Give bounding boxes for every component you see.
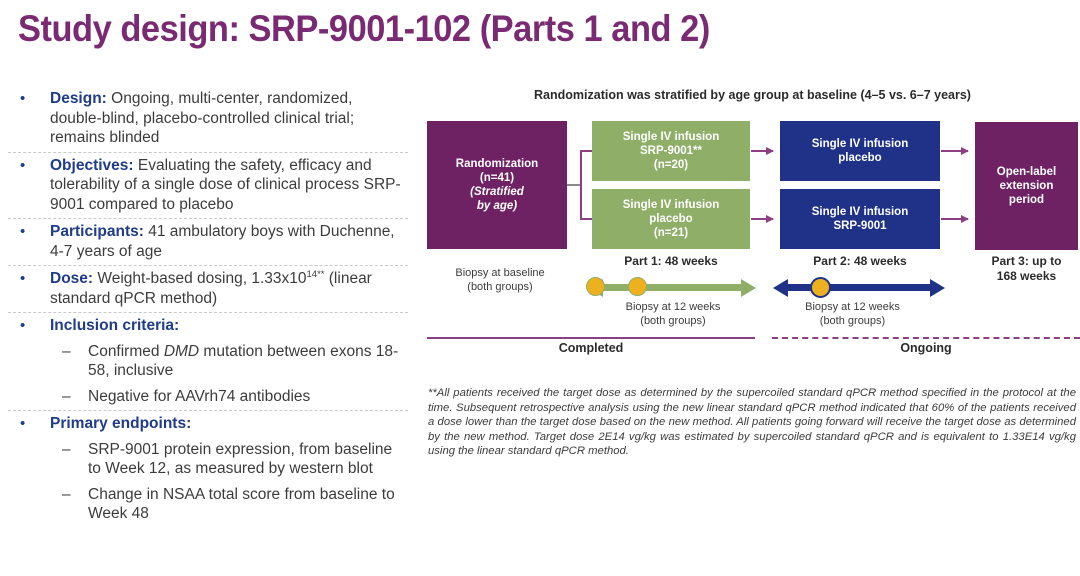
status-divider-ongoing — [772, 337, 1080, 339]
sub-bullet-nsaa-score: –Change in NSAA total score from baselin… — [8, 485, 408, 524]
timeline-part1 — [588, 276, 756, 298]
dash-icon: – — [62, 387, 71, 407]
diagram-header: Randomization was stratified by age grou… — [425, 88, 1080, 102]
bullet-item-design: •Design: Ongoing, multi-center, randomiz… — [8, 89, 408, 148]
bullet-group-participants: •Participants: 41 ambulatory boys with D… — [8, 218, 408, 265]
randomization-line2: (n=41) — [480, 172, 514, 184]
bullet-item-endpoints: •Primary endpoints: — [8, 414, 408, 434]
srp-p1-line2: SRP-9001** — [640, 145, 702, 157]
connector-bracket-vertical — [580, 150, 582, 220]
box-srp9001-part2: Single IV infusion SRP-9001 — [780, 189, 940, 249]
srp-p2-line2: SRP-9001 — [833, 220, 886, 232]
arrow-placebo-to-srp — [751, 218, 773, 220]
placebo-p2-line2: placebo — [838, 152, 881, 164]
sub-text-pre: Change in NSAA total score from baseline… — [88, 486, 395, 523]
ole-line1: Open-label — [997, 166, 1056, 178]
bullet-dot-icon: • — [20, 156, 25, 176]
placebo-p1-line1: Single IV infusion — [623, 199, 719, 211]
biopsy-marker-week12 — [628, 277, 647, 296]
caption-part3-line1: Part 3: up to — [991, 254, 1061, 268]
bullet-group-dose: •Dose: Weight-based dosing, 1.33x1014** … — [8, 265, 408, 312]
bullet-label-participants: Participants: — [50, 223, 144, 240]
bullet-item-inclusion: •Inclusion criteria: — [8, 316, 408, 336]
box-srp9001-part1: Single IV infusion SRP-9001** (n=20) — [592, 121, 750, 181]
bullet-dot-icon: • — [20, 316, 25, 336]
bullet-label-dose: Dose: — [50, 270, 93, 287]
sub-text-italic: DMD — [164, 343, 199, 360]
arrow-srp2-to-ole — [941, 218, 968, 220]
timeline-arrowhead-right-icon — [741, 279, 756, 297]
biopsy-baseline-line1: Biopsy at baseline — [455, 267, 544, 279]
bullet-label-objectives: Objectives: — [50, 157, 134, 174]
biopsy-baseline-caption: Biopsy at baseline (both groups) — [425, 266, 575, 294]
page-title: Study design: SRP-9001-102 (Parts 1 and … — [18, 8, 855, 50]
sub-text-pre: SRP-9001 protein expression, from baseli… — [88, 441, 392, 478]
status-divider-completed — [427, 337, 755, 339]
timeline-bar — [602, 284, 742, 291]
srp-p1-line1: Single IV infusion — [623, 131, 719, 143]
bullet-group-objectives: •Objectives: Evaluating the safety, effi… — [8, 152, 408, 219]
sub-bullet-dmd-mutation: –Confirmed DMD mutation between exons 18… — [8, 342, 408, 381]
placebo-p2-line1: Single IV infusion — [812, 138, 908, 150]
sub-bullet-protein-expression: –SRP-9001 protein expression, from basel… — [8, 440, 408, 479]
bullet-list: •Design: Ongoing, multi-center, randomiz… — [8, 86, 408, 528]
randomization-line3: (Stratified — [470, 186, 524, 198]
biopsy-week12-line1: Biopsy at 12 weeks — [626, 301, 721, 313]
dash-icon: – — [62, 485, 71, 505]
ole-line3: period — [1009, 194, 1044, 206]
randomization-line1: Randomization — [456, 158, 538, 170]
dash-icon: – — [62, 440, 71, 460]
biopsy-marker-week12 — [810, 277, 831, 298]
biopsy-marker-baseline — [586, 277, 605, 296]
bullet-group-design: •Design: Ongoing, multi-center, randomiz… — [8, 86, 408, 152]
dash-icon: – — [62, 342, 71, 362]
bullet-dose-superscript: 14** — [307, 269, 325, 280]
bullet-item-objectives: •Objectives: Evaluating the safety, effi… — [8, 156, 408, 215]
biopsy-week12-caption-part1: Biopsy at 12 weeks (both groups) — [583, 300, 763, 328]
placebo-p1-line3: (n=21) — [654, 227, 688, 239]
bullet-text-dose-pre: Weight-based dosing, 1.33x10 — [93, 270, 306, 287]
arrow-srp-to-placebo — [751, 150, 773, 152]
arrow-placebo2-to-ole — [941, 150, 968, 152]
biopsy-week12-line2: (both groups) — [820, 315, 885, 327]
caption-part1: Part 1: 48 weeks — [592, 254, 750, 269]
ole-line2: extension — [1000, 180, 1054, 192]
randomization-line4: by age) — [477, 200, 517, 212]
timeline-arrowhead-left-icon — [773, 279, 788, 297]
bullet-dot-icon: • — [20, 89, 25, 109]
status-label-ongoing: Ongoing — [772, 341, 1080, 355]
connector-stub — [567, 184, 581, 186]
bullet-group-inclusion: •Inclusion criteria: –Confirmed DMD muta… — [8, 312, 408, 410]
srp-p1-line3: (n=20) — [654, 159, 688, 171]
study-design-diagram: Randomization was stratified by age grou… — [425, 88, 1080, 368]
biopsy-week12-caption-part2: Biopsy at 12 weeks (both groups) — [765, 300, 940, 328]
biopsy-baseline-line2: (both groups) — [467, 281, 532, 293]
biopsy-week12-line2: (both groups) — [640, 315, 705, 327]
timeline-part2 — [773, 276, 945, 298]
bullet-group-endpoints: •Primary endpoints: –SRP-9001 protein ex… — [8, 410, 408, 528]
box-randomization: Randomization (n=41) (Stratified by age) — [427, 121, 567, 249]
box-placebo-part2: Single IV infusion placebo — [780, 121, 940, 181]
srp-p2-line1: Single IV infusion — [812, 206, 908, 218]
placebo-p1-line2: placebo — [649, 213, 692, 225]
caption-part3-line2: 168 weeks — [997, 269, 1056, 283]
footnote: **All patients received the target dose … — [428, 386, 1076, 459]
box-open-label-extension: Open-label extension period — [975, 122, 1078, 250]
bullet-label-inclusion: Inclusion criteria: — [50, 317, 179, 334]
timeline-bar — [787, 284, 931, 291]
bullet-dot-icon: • — [20, 414, 25, 434]
biopsy-week12-line1: Biopsy at 12 weeks — [805, 301, 900, 313]
caption-part2: Part 2: 48 weeks — [780, 254, 940, 269]
bullet-label-design: Design: — [50, 90, 107, 107]
sub-text-pre: Negative for AAVrh74 antibodies — [88, 388, 310, 405]
sub-bullet-aavrh74: –Negative for AAVrh74 antibodies — [8, 387, 408, 407]
caption-part3: Part 3: up to 168 weeks — [969, 254, 1080, 284]
timeline-arrowhead-right-icon — [930, 279, 945, 297]
bullet-dot-icon: • — [20, 222, 25, 242]
box-placebo-part1: Single IV infusion placebo (n=21) — [592, 189, 750, 249]
bullet-dot-icon: • — [20, 269, 25, 289]
bullet-item-dose: •Dose: Weight-based dosing, 1.33x1014** … — [8, 269, 408, 308]
bullet-item-participants: •Participants: 41 ambulatory boys with D… — [8, 222, 408, 261]
sub-text-pre: Confirmed — [88, 343, 164, 360]
bullet-label-endpoints: Primary endpoints: — [50, 415, 191, 432]
status-label-completed: Completed — [427, 341, 755, 355]
